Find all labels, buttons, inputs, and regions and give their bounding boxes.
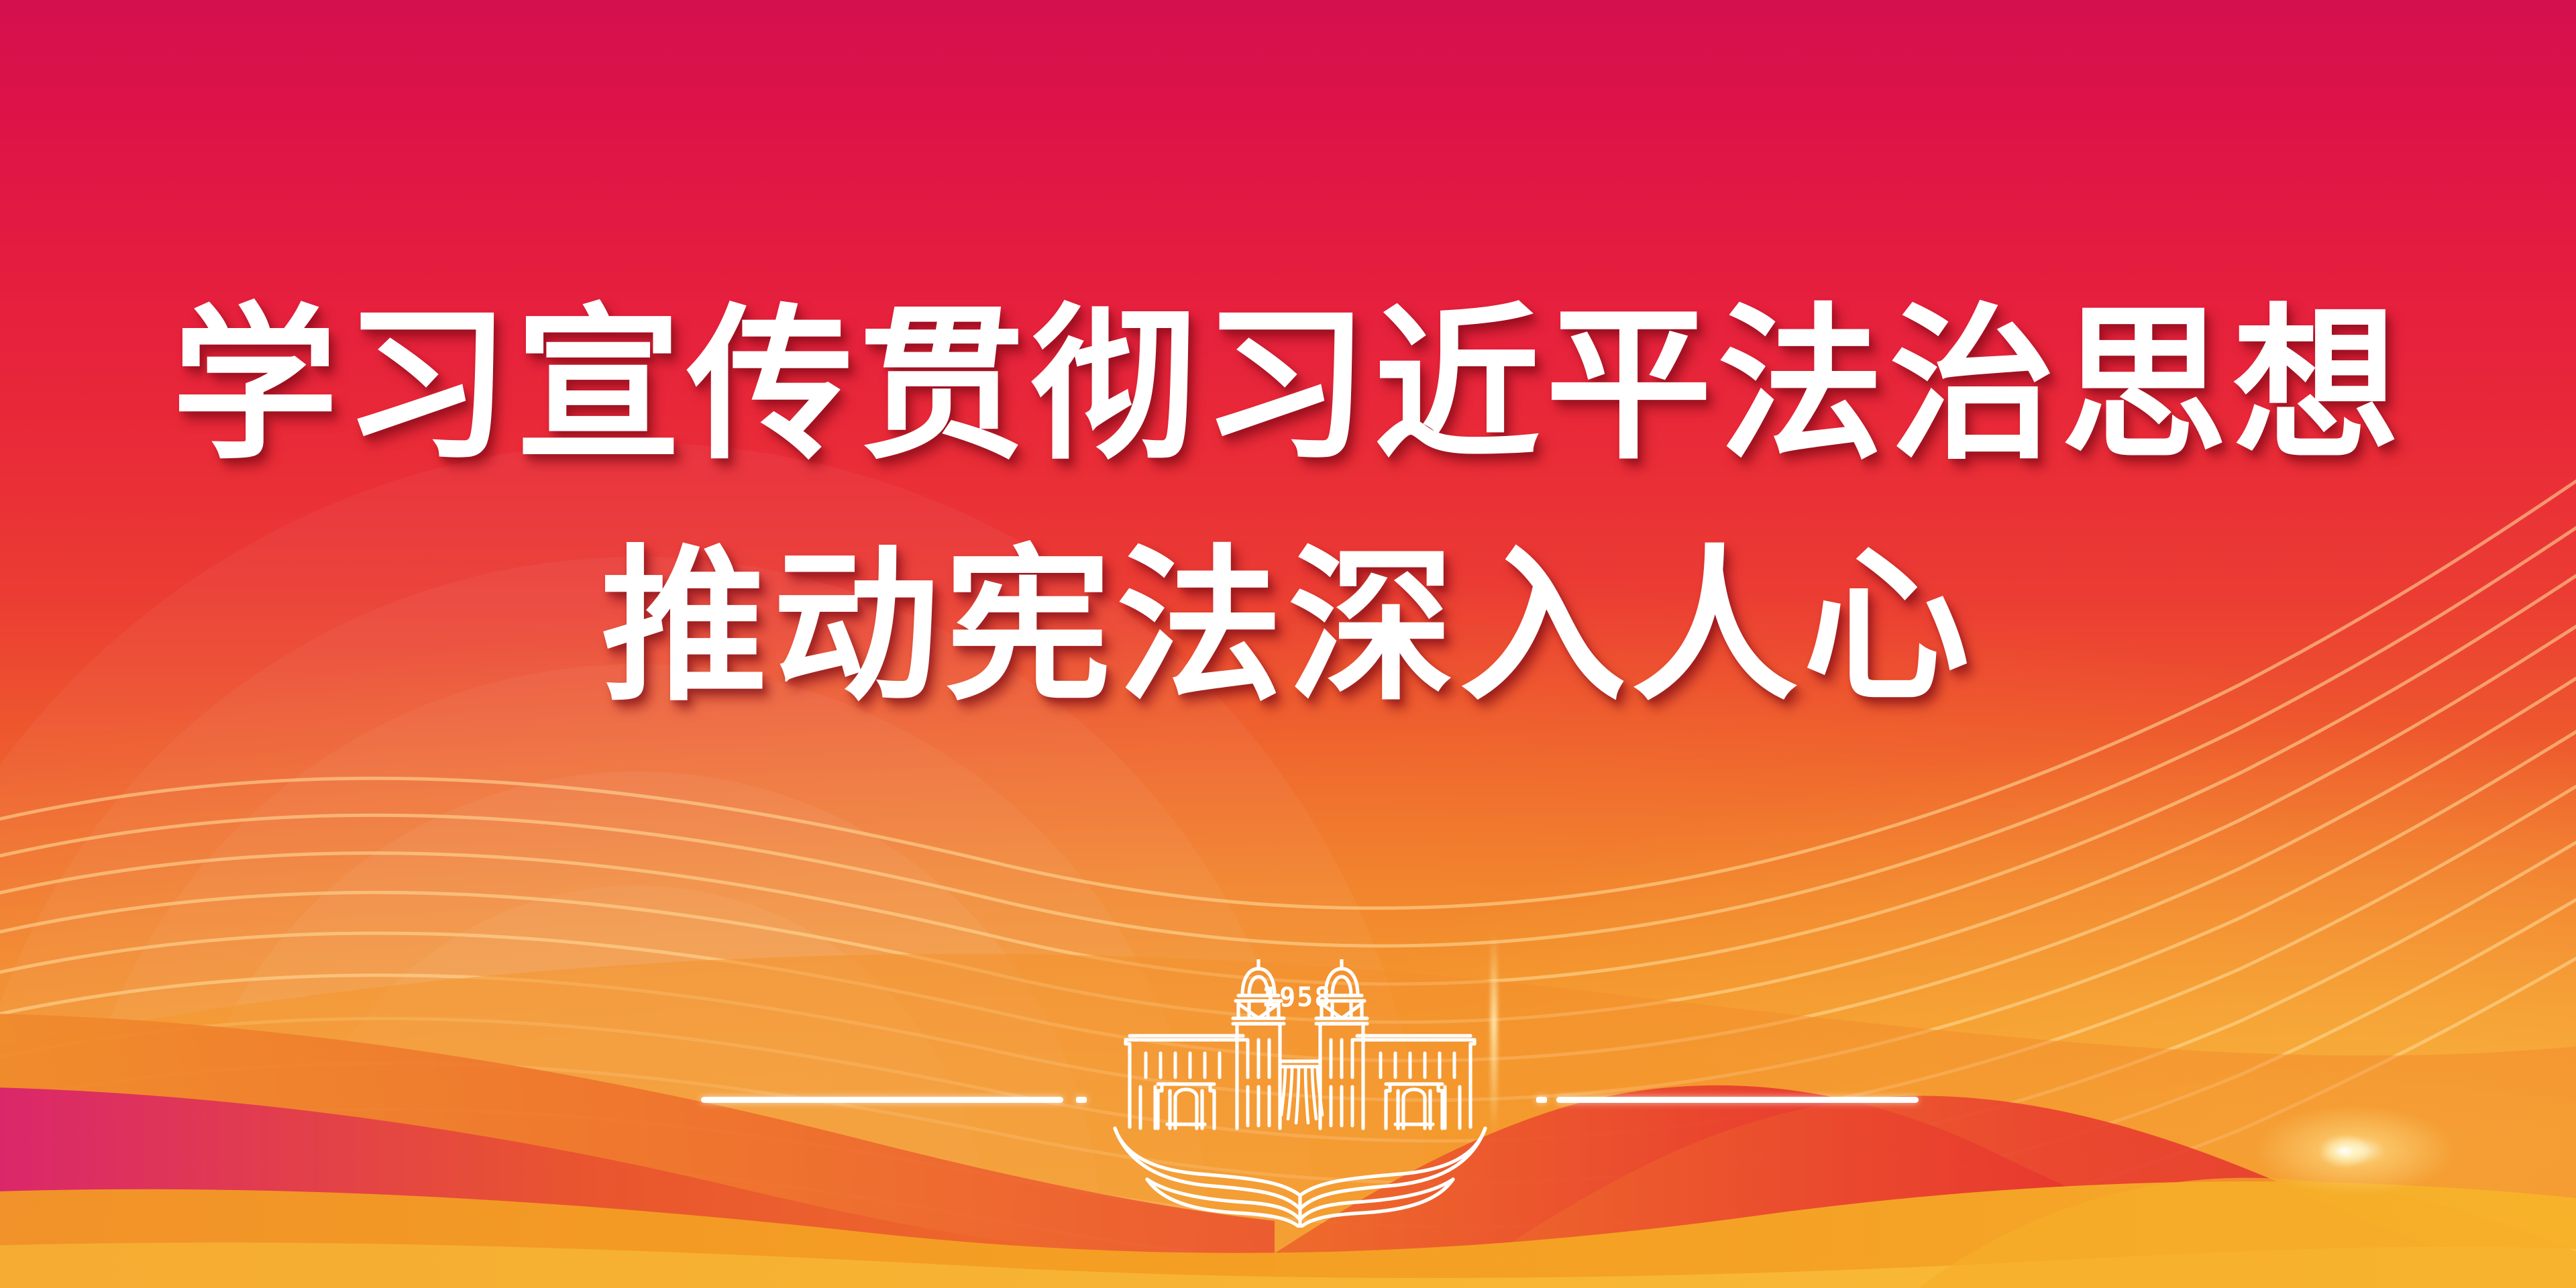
accent-rule-left-dot	[1076, 1097, 1087, 1103]
banner-canvas: 学习宣传贯彻习近平法治思想 推动宪法深入人心	[0, 0, 2576, 1288]
emblem-year-label: 1958	[1262, 981, 1342, 1014]
accent-rule-right	[1556, 1097, 1919, 1103]
accent-rule-right-dot	[1536, 1097, 1547, 1103]
accent-rule-left	[701, 1097, 1063, 1103]
